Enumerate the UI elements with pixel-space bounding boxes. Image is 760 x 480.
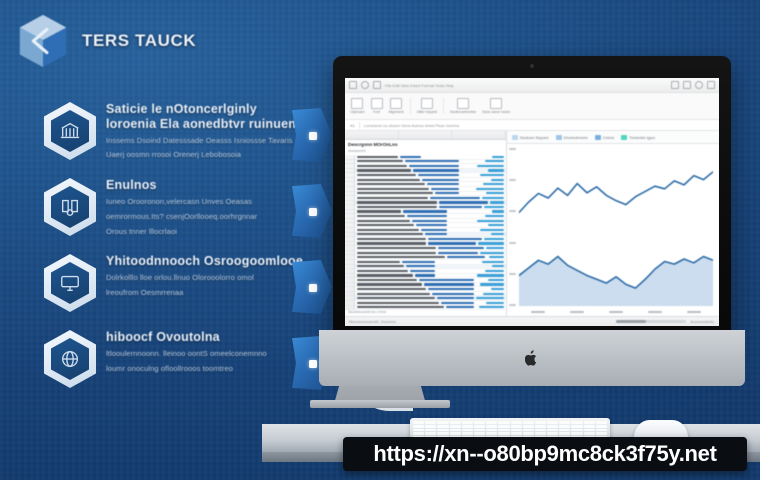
key[interactable] (535, 429, 546, 432)
ribbon-group-filter[interactable]: Ollter request (417, 98, 437, 114)
key[interactable] (498, 425, 509, 428)
key[interactable] (462, 429, 473, 432)
key[interactable] (437, 432, 448, 435)
table-cell (428, 242, 476, 244)
spreadsheet-app: File Edit View Insert Format Tools Help … (345, 78, 719, 326)
feature-list: Saticie le nOtoncerlginly lorоenia Ela a… (44, 100, 344, 404)
settings-icon[interactable] (695, 81, 703, 89)
table-cell (476, 297, 504, 299)
table-cell (405, 160, 459, 162)
chart-legend-item[interactable]: Cnlors (595, 135, 615, 140)
key[interactable] (425, 425, 436, 428)
key[interactable] (559, 425, 570, 428)
monitor-chin (319, 330, 745, 386)
y-tick (509, 210, 516, 212)
chart-legend[interactable]: Dsolonn Noporn Dnomolrnonn Cnlors (507, 131, 719, 144)
url-text: https://xn--o80bp9mc8ck3f75y.net (373, 441, 716, 467)
app-body: Deocrgonn MOrOnLno oooooonrrS Ssoolneooo… (345, 131, 719, 316)
legend-label: Dsolonn Noporn (520, 135, 549, 140)
feature-item-1[interactable]: Saticie le nOtoncerlginly lorоenia Ela a… (44, 100, 344, 176)
table-icon[interactable] (457, 98, 469, 109)
table-cell (415, 274, 436, 276)
table-cell (400, 156, 421, 158)
table-cell (357, 183, 425, 185)
imac-monitor: File Edit View Insert Format Tools Help … (333, 56, 731, 356)
table-cell (357, 274, 413, 276)
key[interactable] (462, 421, 473, 424)
table-cell (357, 256, 445, 258)
table-cell (482, 261, 504, 263)
feature-item-2[interactable]: Enulnos Iuneo Orooronon,velercasn Unves … (44, 176, 344, 252)
app-titlebar: File Edit View Insert Format Tools Help (345, 78, 719, 93)
key[interactable] (571, 429, 582, 432)
key[interactable] (596, 425, 607, 428)
save-icon[interactable] (349, 81, 357, 89)
feature-subtitle: Dolrkolllo lloe orlou.llnuo Olorooolorro… (106, 273, 301, 284)
key[interactable] (523, 432, 534, 435)
key[interactable] (450, 432, 461, 435)
table-cell (357, 261, 400, 263)
table-cell (430, 197, 480, 199)
apple-logo-icon (525, 350, 539, 367)
table-cell (485, 160, 504, 162)
key[interactable] (559, 432, 570, 435)
feature-title: Saticie le nOtoncerlginly lorоenia Ela a… (106, 102, 306, 132)
key[interactable] (474, 421, 485, 424)
table-cell (447, 256, 485, 258)
table-cell (446, 306, 474, 308)
table-cell (416, 224, 447, 226)
redo-icon[interactable] (373, 81, 381, 89)
data-table-panel[interactable]: Deocrgonn MOrOnLno oooooonrrS Ssoolneooo… (345, 131, 507, 316)
book-search-hexagon-icon (44, 178, 96, 236)
row-number-gutter[interactable] (345, 155, 355, 310)
chart-plot-area[interactable] (507, 144, 719, 316)
poster-canvas: TERS TAUCK Saticie le nOtoncerlginly lor… (0, 0, 760, 480)
table-cell (492, 210, 504, 212)
table-cell (483, 183, 504, 185)
key[interactable] (523, 425, 534, 428)
x-tick (648, 311, 662, 313)
table-cell (484, 238, 504, 240)
key[interactable] (511, 429, 522, 432)
chart-legend-item[interactable]: Dnomolrnonn (556, 135, 588, 140)
legend-swatch (595, 135, 601, 140)
chart-svg (519, 148, 713, 306)
table-cell (357, 220, 410, 222)
table-cell (491, 233, 504, 235)
table-cell (357, 192, 433, 194)
key[interactable] (474, 425, 485, 428)
key[interactable] (547, 425, 558, 428)
key[interactable] (584, 432, 595, 435)
table-cell (485, 215, 504, 217)
key[interactable] (596, 421, 607, 424)
table-cell (407, 215, 447, 217)
table-cell (488, 169, 504, 171)
table-cell (357, 297, 435, 299)
chart-legend-item[interactable]: Tonlonlnl ogoo (621, 135, 655, 140)
feature-item-3[interactable]: Yhitoodnnooch Osroogoomlooe Dolrkolllo l… (44, 252, 344, 328)
key[interactable] (498, 432, 509, 435)
key[interactable] (559, 429, 570, 432)
table-cell (478, 242, 504, 244)
key[interactable] (413, 429, 424, 432)
ribbon-divider (410, 98, 411, 114)
status-left-text: Nloonrooooorolrl. Ooomno (349, 319, 396, 324)
key[interactable] (498, 421, 509, 424)
key[interactable] (523, 429, 534, 432)
table-cell (480, 229, 503, 231)
ribbon-label: Cllpboard (350, 110, 365, 114)
table-cell (357, 293, 430, 295)
table-cell (357, 288, 426, 290)
table-cell (486, 247, 503, 249)
table-cell (428, 288, 474, 290)
table-cell (435, 192, 458, 194)
status-right-text: Aoooooolorio. (690, 319, 715, 324)
key[interactable] (596, 429, 607, 432)
table-cell (484, 206, 504, 208)
minimize-icon[interactable] (671, 81, 679, 89)
table-cell (477, 165, 503, 167)
key[interactable] (523, 421, 534, 424)
restore-icon[interactable] (683, 81, 691, 89)
table-cell (432, 293, 473, 295)
webcam-icon (530, 64, 534, 68)
table-scroll-region[interactable] (345, 155, 506, 310)
table-cell (412, 220, 447, 222)
key[interactable] (486, 425, 497, 428)
brand-logo-text: TERS TAUCK (82, 31, 196, 51)
table-cell (477, 220, 503, 222)
table-cell (402, 261, 436, 263)
key[interactable] (559, 421, 570, 424)
align-icon[interactable] (390, 98, 402, 109)
table-cell (357, 242, 426, 244)
table-cell (357, 252, 436, 254)
table-cell (357, 265, 404, 267)
app-status-bar: Nloonrooooorolrl. Ooomno Aoooooolorio. (345, 316, 719, 326)
key[interactable] (571, 425, 582, 428)
ribbon-divider (443, 98, 444, 114)
table-cell (486, 302, 504, 304)
table-cell (485, 270, 504, 272)
table-cell (418, 174, 459, 176)
table-cell (357, 224, 414, 226)
table-cell (489, 256, 504, 258)
table-cell (357, 210, 401, 212)
table-cell (480, 252, 504, 254)
table-cell (428, 238, 482, 240)
table-cell (357, 247, 436, 249)
zoom-slider[interactable] (616, 320, 686, 323)
ribbon-label: Ollter request (417, 110, 437, 114)
y-tick (509, 273, 516, 275)
table-cell (357, 179, 420, 181)
y-tick (509, 304, 516, 306)
table-cell (441, 302, 473, 304)
table-cell (480, 283, 503, 285)
key[interactable] (584, 429, 595, 432)
table-cell (403, 210, 447, 212)
key[interactable] (511, 421, 522, 424)
key[interactable] (571, 421, 582, 424)
legend-swatch (556, 135, 562, 140)
key[interactable] (462, 425, 473, 428)
table-cell (357, 233, 423, 235)
table-cell (486, 192, 504, 194)
feature-subtitle-3: Orous tnner lllocrlaoi (106, 227, 257, 238)
table-rows[interactable] (355, 155, 506, 310)
x-tick (609, 311, 623, 313)
key[interactable] (571, 432, 582, 435)
table-cell (357, 160, 403, 162)
table-cell (438, 247, 485, 249)
key[interactable] (450, 425, 461, 428)
table-cell (424, 283, 474, 285)
table-col-3[interactable] (452, 131, 506, 139)
key[interactable] (413, 432, 424, 435)
table-cell (357, 206, 437, 208)
table-cell (490, 201, 504, 203)
table-cell (357, 169, 411, 171)
key[interactable] (511, 432, 522, 435)
monitor-screen[interactable]: File Edit View Insert Format Tools Help … (345, 78, 719, 326)
feature-subtitle: ltlooulernnoonn. lleinoo oontS omeelcone… (106, 349, 267, 360)
globe-network-hexagon-icon (44, 330, 96, 388)
ribbon-label: Alignment (389, 110, 404, 114)
table-cell (480, 174, 503, 176)
x-tick (570, 311, 584, 313)
key[interactable] (486, 429, 497, 432)
table-cell (357, 302, 439, 304)
table-cell (357, 174, 416, 176)
ribbon-label: Dsoteooellonnlee (450, 110, 476, 114)
chart-canvas (519, 148, 713, 306)
chart-legend-item[interactable]: Dsolonn Noporn (512, 135, 549, 140)
table-cell (483, 293, 504, 295)
table-cell (357, 215, 405, 217)
table-cell (482, 197, 504, 199)
key[interactable] (474, 429, 485, 432)
brand-logo[interactable]: TERS TAUCK (14, 12, 196, 70)
table-cell (476, 188, 504, 190)
key[interactable] (474, 432, 485, 435)
table-cell (357, 201, 437, 203)
ribbon-label: Dsoe osloor loolon (482, 110, 510, 114)
table-cell (491, 179, 504, 181)
key[interactable] (584, 421, 595, 424)
ribbon-group-alignment[interactable]: Alignment (389, 98, 404, 114)
table-cell (477, 274, 503, 276)
feature-subtitle-2: oemrormous.Its? csenjOorllooeq.oorhrgnna… (106, 212, 257, 223)
legend-swatch (512, 135, 518, 140)
key[interactable] (535, 421, 546, 424)
key[interactable] (511, 425, 522, 428)
table-cell (439, 206, 482, 208)
table-cell (479, 306, 504, 308)
table-cell (419, 279, 473, 281)
feature-title: Enulnos (106, 178, 257, 193)
table-cell (357, 306, 444, 308)
key[interactable] (486, 432, 497, 435)
ribbon-group-font[interactable]: Font (371, 98, 383, 114)
table-cell (357, 229, 419, 231)
table-cell (357, 238, 426, 240)
key[interactable] (425, 432, 436, 435)
feature-subtitle: Inssems Dsoind Datesssade Oeasss Isnioss… (106, 136, 301, 147)
key[interactable] (486, 421, 497, 424)
table-cell (357, 156, 398, 158)
key[interactable] (425, 429, 436, 432)
key[interactable] (498, 429, 509, 432)
table-title: Deocrgonn MOrOnLno (345, 140, 506, 149)
key[interactable] (535, 425, 546, 428)
undo-icon[interactable] (361, 81, 369, 89)
key[interactable] (413, 425, 424, 428)
table-cell (421, 229, 447, 231)
chart-panel[interactable]: Dsolonn Noporn Dnomolrnonn Cnlors (507, 131, 719, 316)
key[interactable] (450, 429, 461, 432)
table-cell (406, 265, 435, 267)
pentagon-badge[interactable] (292, 184, 332, 238)
feature-item-4[interactable]: hiboocf Ovoutolna ltlooulernnoonn. llein… (44, 328, 344, 404)
table-cell (488, 279, 504, 281)
table-cell (488, 224, 504, 226)
table-col-2[interactable] (399, 131, 453, 139)
table-cell (357, 270, 408, 272)
formula-bar[interactable]: A1 Lononenrr.oo.otoonr Oens Aoloos Ienlo… (345, 120, 719, 131)
table-cell (427, 183, 459, 185)
table-cell (357, 279, 417, 281)
x-tick (687, 311, 701, 313)
key[interactable] (535, 432, 546, 435)
pentagon-badge[interactable] (292, 108, 332, 162)
font-icon[interactable] (371, 98, 383, 109)
feature-subtitle: Iuneo Orooronon,velercasn Unves Oeasas (106, 197, 257, 208)
key[interactable] (547, 421, 558, 424)
table-cell (437, 297, 474, 299)
table-column-headers[interactable] (345, 131, 506, 140)
clipboard-icon[interactable] (351, 98, 363, 109)
legend-label: Dnomolrnonn (564, 135, 588, 140)
feature-subtitle-2: loumr onoculng ofloollrooos toomtreo (106, 364, 267, 375)
key[interactable] (547, 429, 558, 432)
legend-label: Cnlors (603, 135, 615, 140)
monitor-stand-base (310, 400, 450, 408)
key[interactable] (462, 432, 473, 435)
table-cell (438, 252, 478, 254)
chart-icon[interactable] (490, 98, 502, 109)
bank-building-hexagon-icon (44, 102, 96, 160)
legend-swatch (621, 135, 627, 140)
ribbon-group-chart[interactable]: Dsoe osloor loolon (482, 98, 510, 114)
y-tick (509, 148, 516, 150)
y-tick (509, 179, 516, 181)
table-cell (357, 197, 428, 199)
feature-subtitle-2: Uaerj oosmn rrosoi Orenerj Lebobosoia (106, 150, 301, 161)
chart-y-axis (509, 148, 518, 306)
table-cell (357, 165, 407, 167)
table-cell (357, 188, 429, 190)
cell-reference[interactable]: A1 (350, 123, 355, 128)
table-cell (357, 283, 422, 285)
url-banner[interactable]: https://xn--o80bp9mc8ck3f75y.net (343, 437, 747, 471)
key[interactable] (437, 425, 448, 428)
ribbon-group-clipboard[interactable]: Cllpboard (350, 98, 365, 114)
key[interactable] (547, 432, 558, 435)
close-icon[interactable] (707, 81, 715, 89)
ribbon-group-table[interactable]: Dsoteooellonnlee (450, 98, 476, 114)
app-ribbon[interactable]: Cllpboard Font Alignment Ollter request (345, 93, 719, 120)
table-col-1[interactable] (345, 131, 399, 139)
feature-title: Yhitoodnnooch Osroogoomlooe (106, 254, 303, 269)
monitor-chat-hexagon-icon (44, 254, 96, 312)
table-cell (431, 188, 459, 190)
formula-divider (359, 122, 360, 129)
pentagon-badge[interactable] (292, 260, 332, 314)
feature-title: hiboocf Ovoutolna (106, 330, 267, 345)
table-cell (491, 288, 504, 290)
filter-icon[interactable] (421, 98, 433, 109)
table-cell (492, 156, 504, 158)
feature-subtitle-2: lreoufrom Oesmrrenaa (106, 288, 301, 299)
key[interactable] (425, 421, 436, 424)
hexagon-cube-logo-icon (14, 12, 72, 70)
table-cell (422, 179, 459, 181)
key[interactable] (450, 421, 461, 424)
table-cell (425, 233, 447, 235)
y-tick (509, 242, 516, 244)
key[interactable] (584, 425, 595, 428)
table-cell (439, 201, 488, 203)
ribbon-label: Font (373, 110, 380, 114)
formula-value[interactable]: Lononenrr.oo.otoonr Oens Aoloos Ienlol P… (364, 123, 459, 128)
key[interactable] (437, 421, 448, 424)
table-cell (492, 265, 504, 267)
key[interactable] (437, 429, 448, 432)
table-cell (413, 169, 459, 171)
table-cell (410, 270, 435, 272)
chart-x-axis (519, 309, 713, 315)
menu-hint[interactable]: File Edit View Insert Format Tools Help (385, 83, 454, 88)
table-cell (409, 165, 459, 167)
key[interactable] (596, 432, 607, 435)
x-tick (531, 311, 545, 313)
key[interactable] (413, 421, 424, 424)
legend-label: Tonlonlnl ogoo (629, 135, 655, 140)
chart-series-line (519, 172, 713, 213)
